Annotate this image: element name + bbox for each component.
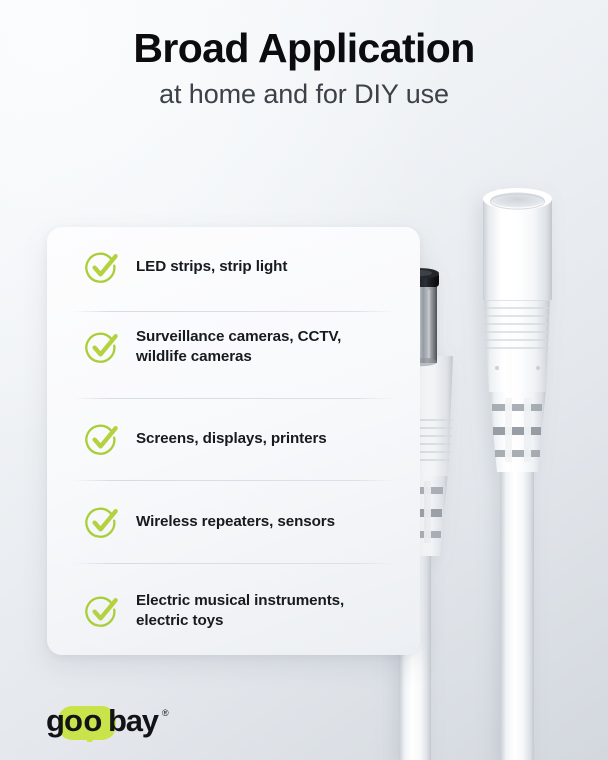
list-item-label: LED strips, strip light: [136, 257, 287, 277]
check-circle-icon: [85, 422, 119, 456]
list-item-label: Electric musical instruments, electric t…: [136, 591, 395, 631]
feature-list: LED strips, strip light Surveillance cam…: [47, 227, 420, 655]
list-divider: [72, 311, 395, 312]
list-item: LED strips, strip light: [85, 250, 395, 284]
logo-text-bay: bay: [108, 703, 160, 738]
logo-trademark: ®: [162, 708, 169, 718]
list-divider: [72, 563, 395, 564]
list-item-label: Screens, displays, printers: [136, 429, 327, 449]
logo-text-g: g: [46, 703, 64, 738]
list-item-label: Surveillance cameras, CCTV, wildlife cam…: [136, 327, 395, 367]
list-divider: [72, 480, 395, 481]
list-item-label: Wireless repeaters, sensors: [136, 512, 335, 532]
feature-card: LED strips, strip light Surveillance cam…: [47, 227, 420, 655]
goobay-logo: g oo bay ®: [44, 700, 194, 742]
promo-image-root: Broad Application at home and for DIY us…: [0, 0, 608, 760]
list-item: Wireless repeaters, sensors: [85, 505, 395, 539]
logo-text-oo: oo: [64, 703, 103, 738]
list-item: Surveillance cameras, CCTV, wildlife cam…: [85, 327, 395, 367]
check-circle-icon: [85, 250, 119, 284]
check-circle-icon: [85, 505, 119, 539]
page-title: Broad Application: [0, 26, 608, 72]
page-subtitle: at home and for DIY use: [0, 78, 608, 110]
check-circle-icon: [85, 330, 119, 364]
header: Broad Application at home and for DIY us…: [0, 26, 608, 110]
list-divider: [72, 398, 395, 399]
check-circle-icon: [85, 594, 119, 628]
list-item: Electric musical instruments, electric t…: [85, 591, 395, 631]
list-item: Screens, displays, printers: [85, 422, 395, 456]
